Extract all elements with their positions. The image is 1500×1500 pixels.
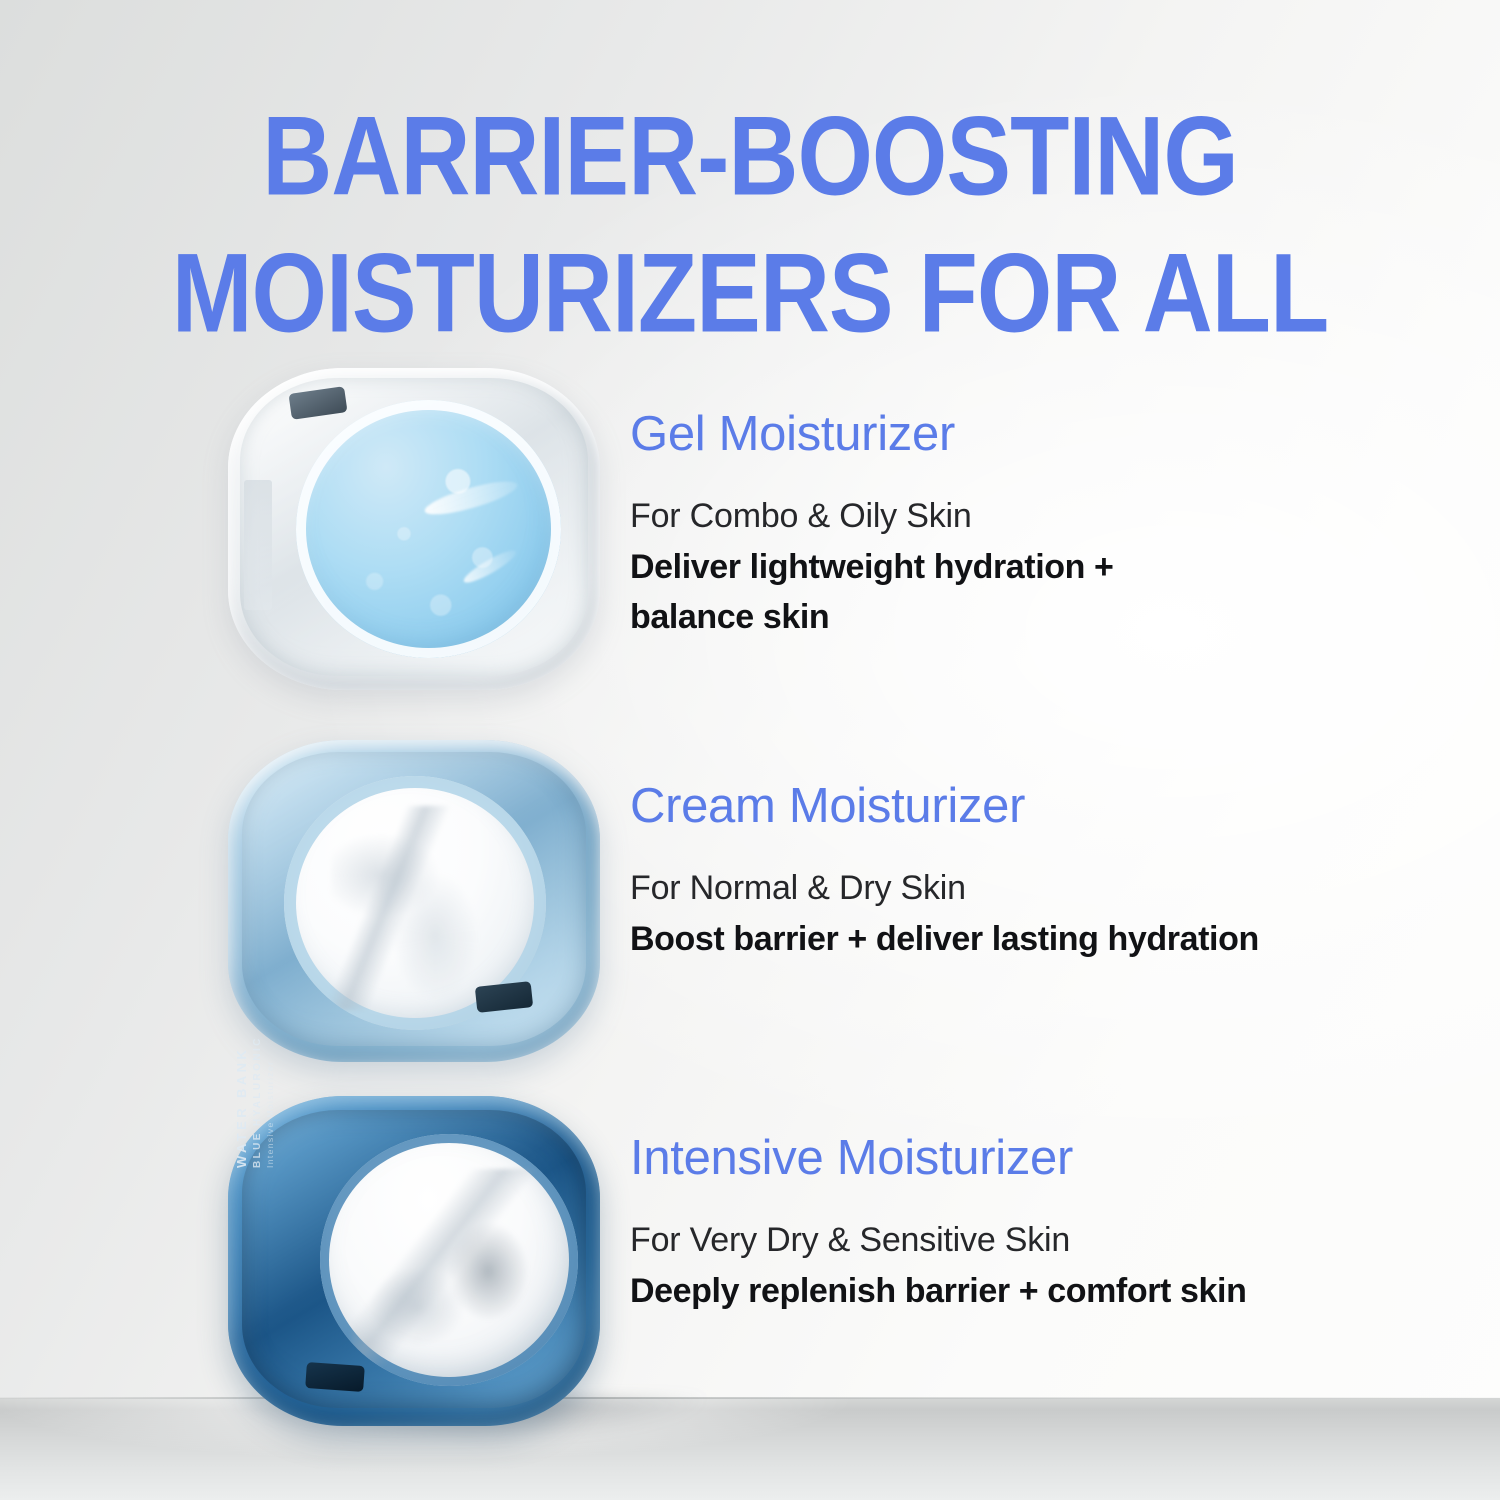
cream-texture	[331, 806, 499, 1009]
jar-intensive-moisturizer: WATER BANK BLUE HYALURONIC Intensive Moi…	[228, 1096, 600, 1426]
product-skin-type: For Combo & Oily Skin	[630, 494, 1190, 538]
jar-opening	[320, 1134, 578, 1386]
product-jar-stack: WATER BANK BLUE HYALURONIC Intensive Moi…	[228, 368, 608, 1428]
product-infographic: BARRIER-BOOSTING MOISTURIZERS FOR ALL	[0, 0, 1500, 1500]
jar-brand-label: WATER BANK BLUE HYALURONIC Intensive Moi…	[234, 1008, 274, 1168]
brand-variant: Intensive Moisturizer	[265, 1008, 275, 1168]
brand-line: BLUE HYALURONIC	[252, 1008, 263, 1168]
product-title: Intensive Moisturizer	[630, 1128, 1246, 1188]
product-title: Cream Moisturizer	[630, 776, 1259, 836]
product-benefit: Boost barrier + deliver lasting hydratio…	[630, 914, 1259, 964]
product-benefit: Deeply replenish barrier + comfort skin	[630, 1266, 1246, 1316]
page-title: BARRIER-BOOSTING MOISTURIZERS FOR ALL	[0, 76, 1500, 350]
headline-line-1: BARRIER-BOOSTING	[0, 76, 1500, 235]
product-info-intensive: Intensive Moisturizer For Very Dry & Sen…	[630, 1128, 1246, 1316]
jar-cream-moisturizer	[228, 740, 600, 1062]
product-skin-type: For Very Dry & Sensitive Skin	[630, 1218, 1246, 1262]
gel-texture	[306, 410, 551, 648]
product-benefit: Deliver lightweight hydration + balance …	[630, 542, 1190, 642]
product-skin-type: For Normal & Dry Skin	[630, 866, 1259, 910]
jar-opening	[296, 400, 561, 658]
jar-hinge-clip	[305, 1362, 365, 1392]
brand-name: WATER BANK	[234, 1008, 249, 1168]
jar-side-label	[244, 480, 272, 610]
jar-gel-moisturizer	[228, 368, 600, 690]
product-title: Gel Moisturizer	[630, 404, 1190, 464]
headline-line-2: MOISTURIZERS FOR ALL	[0, 213, 1500, 372]
product-info-cream: Cream Moisturizer For Normal & Dry Skin …	[630, 776, 1259, 964]
cream-texture	[351, 1169, 547, 1366]
product-info-gel: Gel Moisturizer For Combo & Oily Skin De…	[630, 404, 1190, 642]
